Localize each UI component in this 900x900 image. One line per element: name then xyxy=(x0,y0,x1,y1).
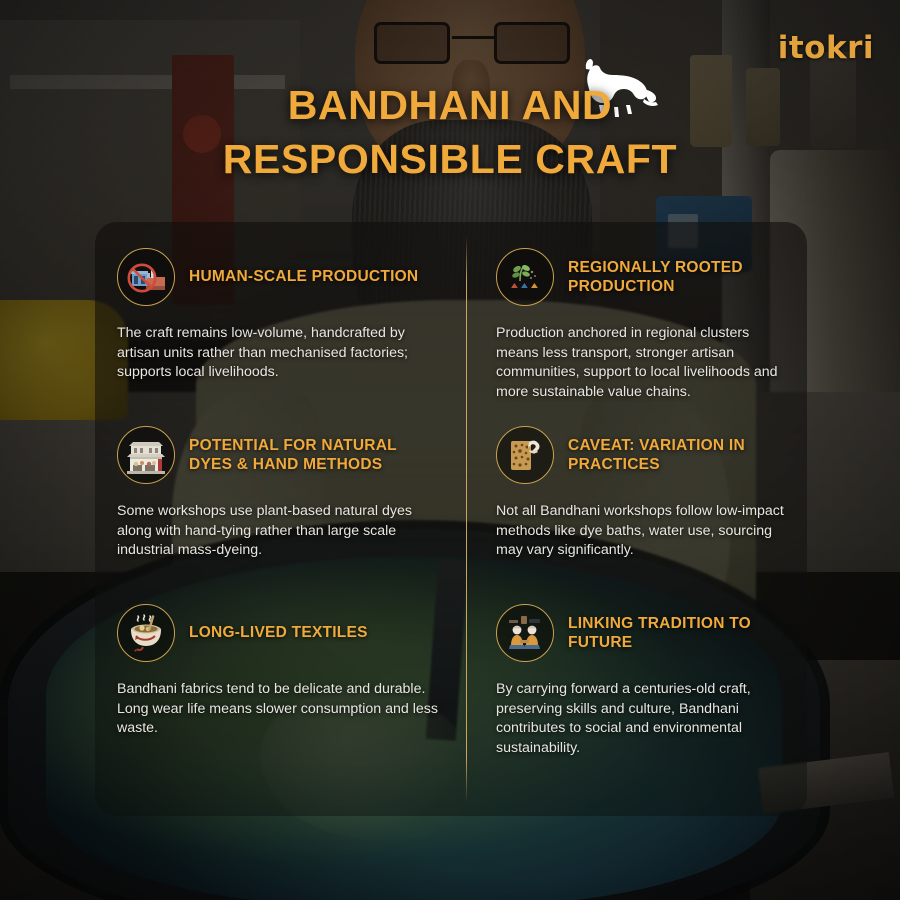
card-natural-dyes-hand-methods: POTENTIAL FOR NATURAL DYES & HAND METHOD… xyxy=(95,400,466,578)
card-long-lived-textiles: LONG-LIVED TEXTILES Bandhani fabrics ten… xyxy=(95,578,466,768)
card-body: Some workshops use plant-based natural d… xyxy=(117,502,442,561)
card-header: HUMAN-SCALE PRODUCTION xyxy=(117,248,442,306)
content-panel: HUMAN-SCALE PRODUCTION The craft remains… xyxy=(95,222,807,816)
card-title: POTENTIAL FOR NATURAL DYES & HAND METHOD… xyxy=(189,436,439,475)
card-title: HUMAN-SCALE PRODUCTION xyxy=(189,267,418,286)
card-title: LONG-LIVED TEXTILES xyxy=(189,623,368,642)
card-caveat-variation-in-practices: CAVEAT: VARIATION IN PRACTICES Not all B… xyxy=(466,400,807,578)
card-body: The craft remains low-volume, handcrafte… xyxy=(117,324,442,383)
card-header: REGIONALLY ROOTED PRODUCTION xyxy=(496,248,789,306)
no-factory-icon xyxy=(117,248,175,306)
card-human-scale-production: HUMAN-SCALE PRODUCTION The craft remains… xyxy=(95,222,466,400)
card-regionally-rooted-production: REGIONALLY ROOTED PRODUCTION Production … xyxy=(466,222,807,400)
sprout-dye-icon xyxy=(496,248,554,306)
card-body: By carrying forward a centuries-old craf… xyxy=(496,680,789,758)
hand-fabric-icon xyxy=(496,426,554,484)
infographic-canvas: itokri BANDHANI AND RESPONSIBLE CRAFT xyxy=(0,0,900,900)
cards-grid: HUMAN-SCALE PRODUCTION The craft remains… xyxy=(95,222,807,816)
card-title: CAVEAT: VARIATION IN PRACTICES xyxy=(568,436,789,475)
card-header: LINKING TRADITION TO FUTURE xyxy=(496,604,789,662)
card-title: LINKING TRADITION TO FUTURE xyxy=(568,614,789,653)
card-title: REGIONALLY ROOTED PRODUCTION xyxy=(568,258,789,297)
itokri-logo[interactable]: itokri xyxy=(778,30,874,66)
card-header: CAVEAT: VARIATION IN PRACTICES xyxy=(496,426,789,484)
card-header: LONG-LIVED TEXTILES xyxy=(117,604,442,662)
page-title: BANDHANI AND RESPONSIBLE CRAFT xyxy=(0,78,900,186)
card-body: Production anchored in regional clusters… xyxy=(496,324,789,402)
two-artisans-icon xyxy=(496,604,554,662)
card-linking-tradition-to-future: LINKING TRADITION TO FUTURE By carrying … xyxy=(466,578,807,768)
card-body: Not all Bandhani workshops follow low-im… xyxy=(496,502,789,561)
title-line-2: RESPONSIBLE CRAFT xyxy=(120,132,780,186)
card-body: Bandhani fabrics tend to be delicate and… xyxy=(117,680,442,739)
dye-pot-icon xyxy=(117,604,175,662)
title-line-1: BANDHANI AND xyxy=(120,78,780,132)
card-header: POTENTIAL FOR NATURAL DYES & HAND METHOD… xyxy=(117,426,442,484)
workshop-building-icon xyxy=(117,426,175,484)
